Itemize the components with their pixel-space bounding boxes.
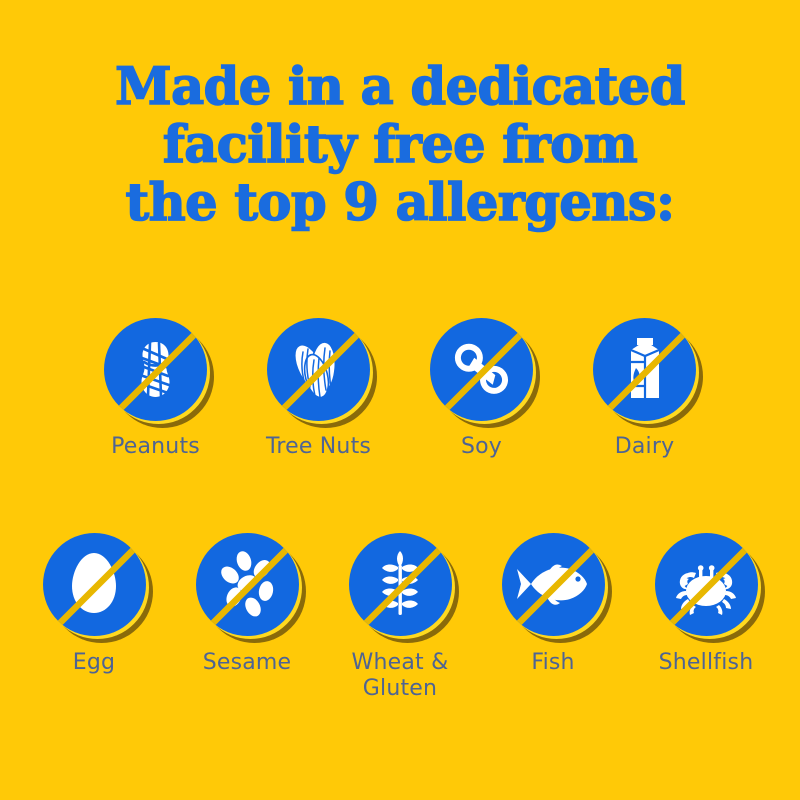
- almond-icon-disc: [267, 318, 370, 421]
- disc-face: [502, 533, 605, 636]
- headline-line-1: Made in a dedicated: [0, 58, 800, 116]
- allergen-badge-shellfish: Shellfish: [649, 533, 764, 702]
- disc-face: [196, 533, 299, 636]
- allergen-label: Shellfish: [659, 650, 754, 676]
- disc-face: [267, 318, 370, 421]
- sesame-seeds-icon-disc: [196, 533, 299, 636]
- headline-line-2: facility free from: [0, 116, 800, 174]
- milk-carton-icon-disc: [593, 318, 696, 421]
- allergen-label: Sesame: [203, 650, 292, 676]
- disc-face: [430, 318, 533, 421]
- wheat-stalk-icon: [349, 533, 452, 636]
- fish-icon: [502, 533, 605, 636]
- allergen-row-2: Egg: [0, 533, 800, 702]
- allergen-label: Wheat & Gluten: [352, 650, 449, 702]
- disc-face: [104, 318, 207, 421]
- peanut-icon-disc: [104, 318, 207, 421]
- soybean-icon: [430, 318, 533, 421]
- egg-icon: [43, 533, 146, 636]
- crab-icon-disc: [655, 533, 758, 636]
- fish-icon-disc: [502, 533, 605, 636]
- allergen-badge-egg: Egg: [37, 533, 152, 702]
- allergen-badge-dairy: Dairy: [587, 318, 702, 460]
- crab-icon: [655, 533, 758, 636]
- allergen-label: Tree Nuts: [266, 434, 371, 460]
- allergen-label: Fish: [531, 650, 574, 676]
- allergen-label: Soy: [461, 434, 502, 460]
- disc-face: [593, 318, 696, 421]
- egg-icon-disc: [43, 533, 146, 636]
- allergen-badge-sesame: Sesame: [190, 533, 305, 702]
- wheat-stalk-icon-disc: [349, 533, 452, 636]
- allergen-badge-fish: Fish: [496, 533, 611, 702]
- allergen-row-1: Peanuts: [0, 318, 800, 460]
- page-title: Made in a dedicated facility free from t…: [0, 58, 800, 232]
- peanut-icon: [104, 318, 207, 421]
- allergen-label: Egg: [73, 650, 115, 676]
- sesame-seeds-icon: [196, 533, 299, 636]
- almond-icon: [267, 318, 370, 421]
- disc-face: [349, 533, 452, 636]
- disc-face: [655, 533, 758, 636]
- allergen-label: Peanuts: [111, 434, 200, 460]
- soybean-icon-disc: [430, 318, 533, 421]
- allergen-badge-wheat-gluten: Wheat & Gluten: [343, 533, 458, 702]
- allergen-info-graphic: Made in a dedicated facility free from t…: [0, 0, 800, 800]
- allergen-label: Dairy: [615, 434, 675, 460]
- allergen-badge-tree-nuts: Tree Nuts: [261, 318, 376, 460]
- allergen-badge-peanuts: Peanuts: [98, 318, 213, 460]
- milk-carton-icon: [593, 318, 696, 421]
- headline-line-3: the top 9 allergens:: [0, 174, 800, 232]
- disc-face: [43, 533, 146, 636]
- allergen-badge-soy: Soy: [424, 318, 539, 460]
